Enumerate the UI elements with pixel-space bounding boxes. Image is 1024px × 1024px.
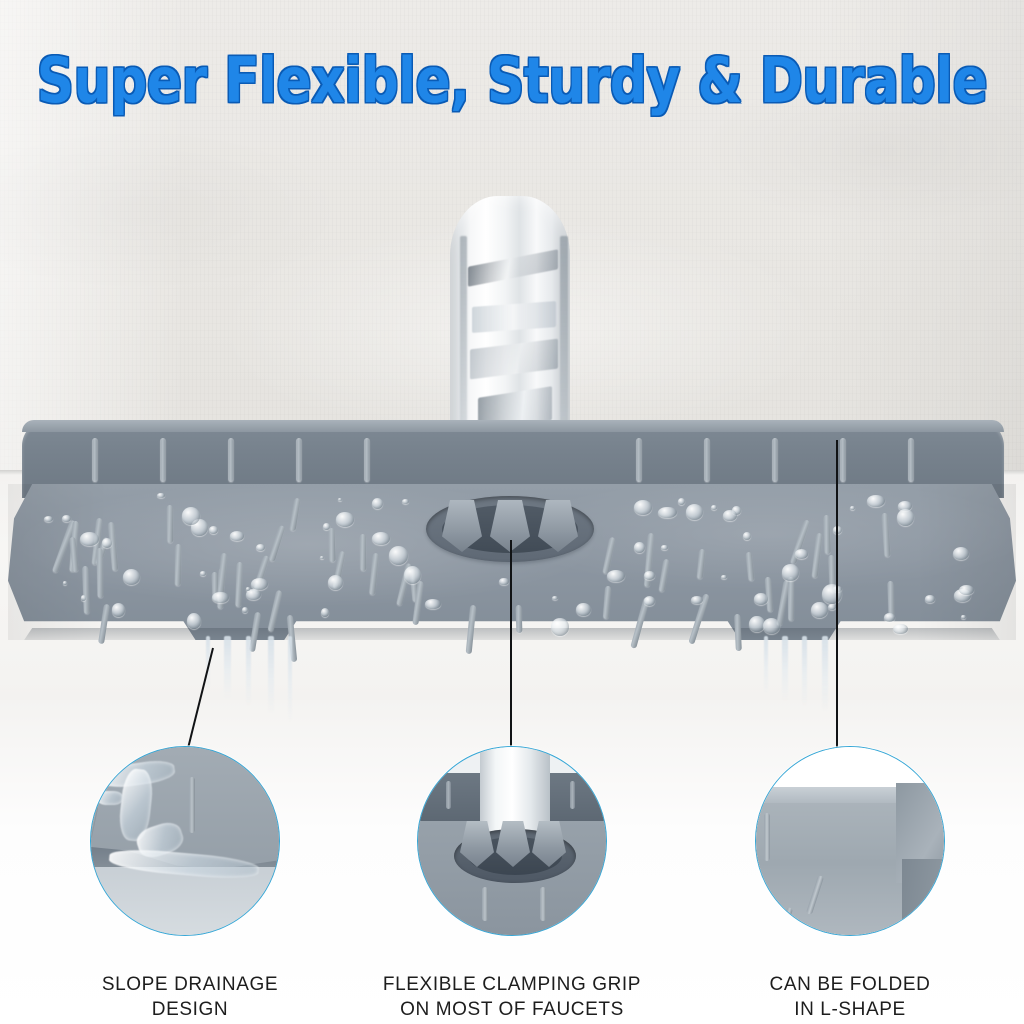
mat-lip-rib xyxy=(92,438,98,482)
mat-nub xyxy=(764,813,770,861)
water-droplet xyxy=(338,498,342,502)
water-droplet xyxy=(372,498,383,509)
water-droplet xyxy=(182,507,200,524)
caption-line: CAN BE FOLDED xyxy=(710,972,990,997)
water-droplet xyxy=(795,549,809,559)
mat-nub xyxy=(360,534,366,571)
water-droplet xyxy=(743,532,751,540)
water-droplet xyxy=(251,578,268,590)
callout-folded-l-shape xyxy=(755,746,945,936)
mat-nub xyxy=(788,577,794,621)
water-droplet xyxy=(661,545,668,550)
water-droplet xyxy=(209,526,218,534)
water-droplet xyxy=(754,593,768,605)
water-drip xyxy=(802,636,807,706)
mat-nub xyxy=(516,605,523,633)
callout-clamping-grip-image xyxy=(418,747,606,935)
page-title: Super Flexible, Sturdy & Durable xyxy=(36,44,988,117)
product-feature-image: Super Flexible, Sturdy & Durable xyxy=(0,0,1024,1024)
water-droplet xyxy=(691,596,703,604)
mat-nub xyxy=(328,528,335,562)
faucet-reflection xyxy=(470,339,558,380)
water-droplet xyxy=(721,575,727,579)
caption-folded-l-shape: CAN BE FOLDED IN L-SHAPE xyxy=(710,972,990,1022)
water-droplet xyxy=(123,569,140,585)
mat-lip-rib xyxy=(446,781,451,809)
mat-lip-rib xyxy=(772,438,778,482)
water-drip xyxy=(288,636,292,722)
water-droplet xyxy=(425,599,442,609)
mat-lip-rib xyxy=(840,438,846,482)
water-droplet xyxy=(62,515,71,523)
mat-nub xyxy=(189,777,195,833)
water-droplet xyxy=(44,516,53,522)
water-droplet xyxy=(822,584,842,604)
water-drip xyxy=(822,636,828,712)
water-drip xyxy=(268,636,274,714)
counter-below xyxy=(90,867,280,936)
mat-nub xyxy=(887,581,894,617)
callout-clamping-grip xyxy=(417,746,607,936)
callout-slope-drainage-image xyxy=(91,747,279,935)
mat-nub xyxy=(82,566,90,614)
leader-line-folded-l-shape xyxy=(836,440,838,752)
mat-lip-rib xyxy=(364,438,370,482)
water-droplet xyxy=(828,604,835,610)
water-droplet xyxy=(576,603,590,616)
mat-lip-rib xyxy=(570,781,575,809)
water-droplet xyxy=(157,493,164,498)
water-droplet xyxy=(607,570,625,582)
water-droplet xyxy=(551,618,569,636)
water-droplet xyxy=(242,607,248,613)
caption-line: IN L-SHAPE xyxy=(710,997,990,1022)
water-droplet xyxy=(112,603,126,617)
water-drip xyxy=(764,636,768,694)
water-droplet xyxy=(256,544,265,551)
water-droplet xyxy=(102,538,112,548)
callout-folded-l-shape-image xyxy=(756,747,944,935)
water-droplet xyxy=(658,507,676,518)
water-droplet xyxy=(811,602,827,618)
mat-lip-rib xyxy=(704,438,710,482)
mat-front-edge xyxy=(8,628,1016,640)
caption-line: DESIGN xyxy=(40,997,340,1022)
caption-slope-drainage: SLOPE DRAINAGE DESIGN xyxy=(40,972,340,1022)
water-droplet xyxy=(686,504,703,520)
water-drip xyxy=(224,636,231,698)
water-droplet xyxy=(867,495,885,507)
water-droplet xyxy=(328,575,343,590)
water-droplet xyxy=(230,531,245,541)
water-droplet xyxy=(782,564,800,580)
mat-vertical-section xyxy=(902,859,945,936)
water-droplet xyxy=(200,571,206,576)
water-droplet xyxy=(212,592,229,604)
water-droplet xyxy=(389,546,409,565)
water-droplet xyxy=(80,532,99,546)
water-droplet xyxy=(893,624,907,635)
water-drip xyxy=(782,636,788,700)
mat-lip-rib xyxy=(160,438,166,482)
mat-lip-rib xyxy=(636,438,642,482)
mat-nub xyxy=(174,544,181,586)
water-droplet xyxy=(97,791,123,805)
mat-nub xyxy=(540,887,546,921)
caption-clamping-grip: FLEXIBLE CLAMPING GRIP ON MOST OF FAUCET… xyxy=(362,972,662,1022)
caption-line: SLOPE DRAINAGE xyxy=(40,972,340,997)
mat-lip-rib xyxy=(228,438,234,482)
mat-lip-top-edge xyxy=(22,420,1004,432)
mat-lip-rib xyxy=(908,438,914,482)
callout-slope-drainage xyxy=(90,746,280,936)
caption-line: FLEXIBLE CLAMPING GRIP xyxy=(362,972,662,997)
water-droplet xyxy=(711,505,717,510)
mat-nub xyxy=(482,887,488,921)
water-droplet xyxy=(897,509,914,526)
water-droplet xyxy=(336,512,354,526)
leader-line-clamping-grip xyxy=(510,540,512,752)
water-droplet xyxy=(763,618,780,634)
mat-nub xyxy=(166,505,172,543)
water-droplet xyxy=(187,613,201,629)
water-droplet xyxy=(925,595,935,602)
water-droplet xyxy=(884,613,895,621)
faucet-reflection xyxy=(472,301,556,333)
faucet-reflection xyxy=(468,249,558,286)
caption-line: ON MOST OF FAUCETS xyxy=(362,997,662,1022)
water-droplet xyxy=(499,578,508,585)
water-drip xyxy=(246,636,251,706)
mat-lip-rib xyxy=(296,438,302,482)
